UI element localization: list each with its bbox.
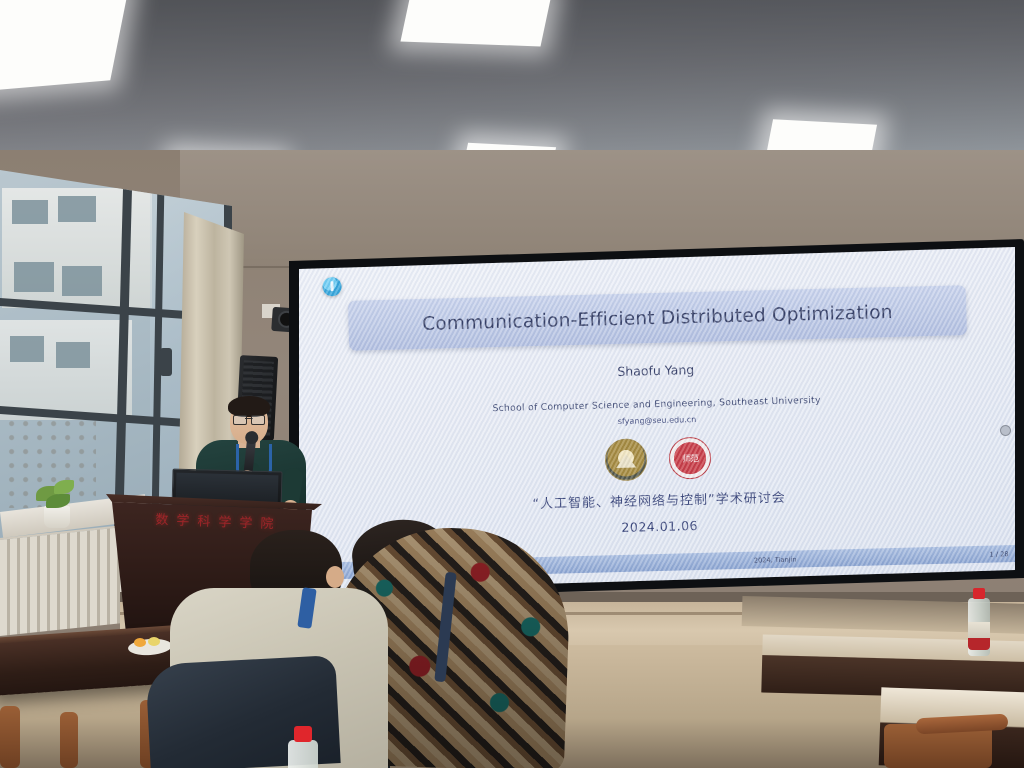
water-bottle-right [968,588,990,656]
eyeglasses-icon [233,415,265,423]
fruit-piece [148,637,160,646]
podium-char: 院 [260,512,277,532]
slide-nav-badge[interactable] [322,277,341,296]
building-outside [0,320,132,420]
building-window [10,336,44,362]
bottle-label [968,622,990,638]
slide-logos [300,429,1015,489]
chair [0,706,20,768]
tianjin-normal-university-logo-icon [668,437,711,480]
plant-pot [44,506,70,528]
presenter-hair [228,396,270,417]
ceiling-light-panel [400,0,551,46]
bottle-body [288,740,318,768]
slide-author: Shaofu Yang [299,354,1014,387]
building-window [58,196,96,222]
slide-title: Communication-Efficient Distributed Opti… [422,302,893,335]
building-window [62,266,102,296]
bottle-cap [294,726,312,742]
footer-venue: 2024, Tianjin [521,549,1015,570]
ceiling-light-panel [0,0,128,91]
chair [60,712,78,768]
conference-room-photo: Communication-Efficient Distributed Opti… [0,0,1024,768]
footer-page-number: 1 / 28 [989,550,1008,558]
bottle-cap [973,588,985,599]
building-window [56,342,90,368]
seated-attendee-ear [326,566,344,588]
water-bottle-foreground [288,726,318,768]
podium-char: 科 [197,510,214,530]
southeast-university-logo-icon [604,438,647,481]
slide-title-box: Communication-Efficient Distributed Opti… [348,285,967,351]
fruit-piece [134,638,146,647]
podium-char: 数 [155,508,172,528]
podium-char: 学 [218,511,235,531]
bottle-base [968,638,990,650]
screen-power-button[interactable] [1000,425,1011,436]
building-window [12,200,48,224]
podium-char: 学 [239,511,256,531]
window-handle [160,348,172,376]
building-window [14,262,54,292]
podium-char: 学 [176,509,193,529]
